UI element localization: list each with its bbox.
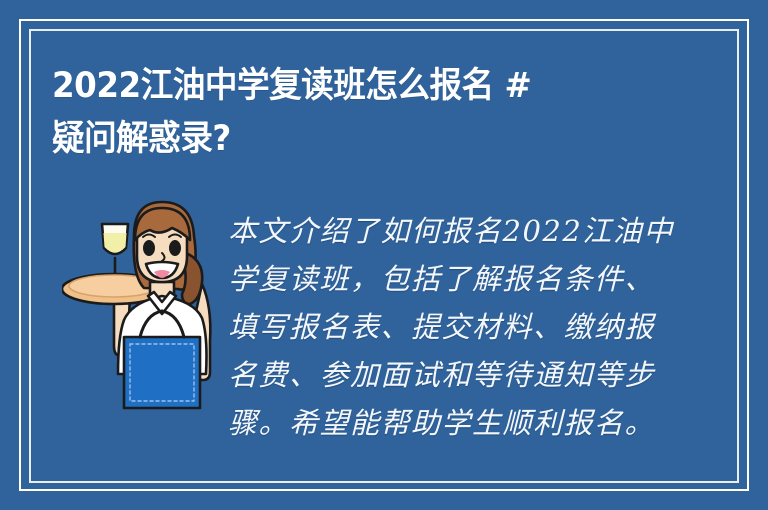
- title-line-1: 2022江油中学复读班怎么报名 #: [52, 60, 666, 113]
- summary-line-3: 填写报名表、提交材料、缴纳报: [228, 303, 648, 351]
- waitress-with-tray-illustration: [62, 196, 237, 431]
- summary-line-4: 名费、参加面试和等待通知等步: [228, 351, 648, 399]
- right-eye-icon: [169, 240, 181, 256]
- left-eye-icon: [143, 240, 155, 256]
- summary-line-2: 学复读班，包括了解报名条件、: [228, 255, 648, 303]
- article-cover-card: 2022江油中学复读班怎么报名 # 疑问解惑录? 本文介绍了如何报名2022江油…: [0, 0, 768, 510]
- page-title: 2022江油中学复读班怎么报名 # 疑问解惑录?: [52, 60, 712, 166]
- summary-line-5: 骤。希望能帮助学生顺利报名。: [228, 399, 648, 447]
- summary-line-1: 本文介绍了如何报名2022江油中: [228, 207, 648, 255]
- title-line-2: 疑问解惑录?: [52, 113, 666, 166]
- article-summary: 本文介绍了如何报名2022江油中 学复读班，包括了解报名条件、 填写报名表、提交…: [228, 207, 648, 447]
